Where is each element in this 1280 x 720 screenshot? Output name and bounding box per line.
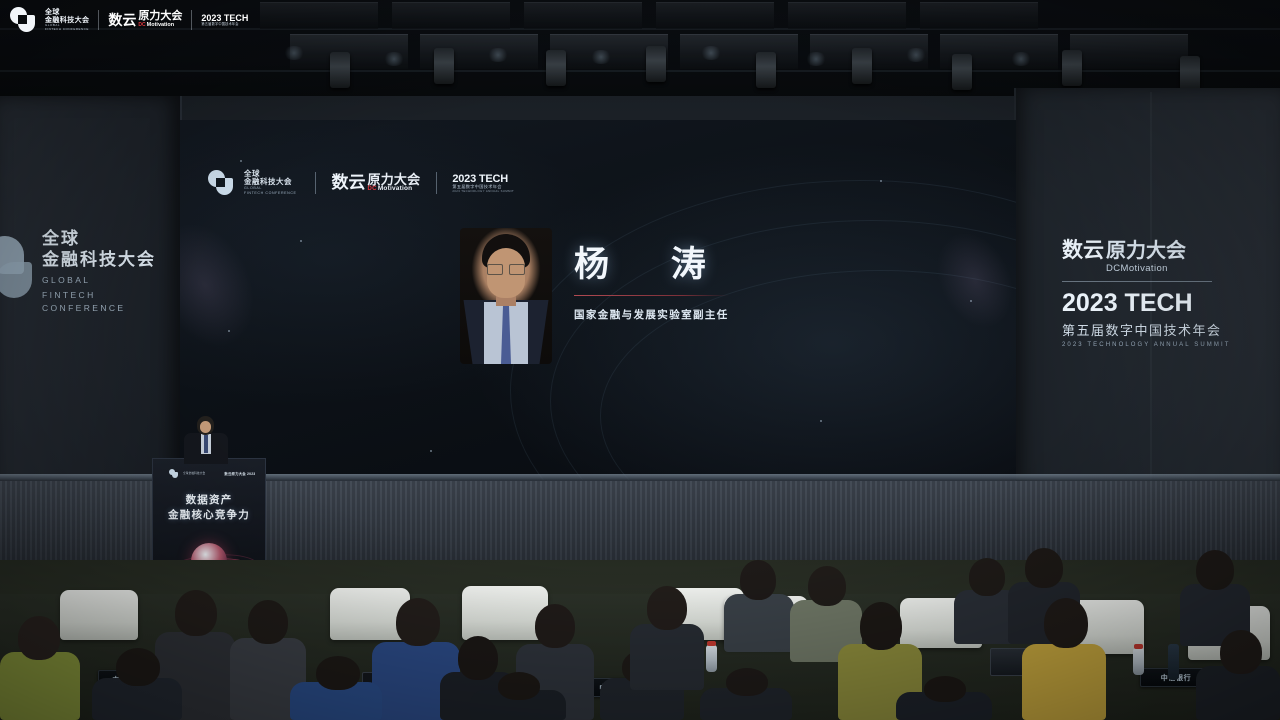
fintech-conference-logo-icon	[208, 170, 234, 196]
screen-shuyun-cn: 数云	[332, 174, 366, 191]
left-wall-signage: 全球 金融科技大会 GLOBAL FINTECH CONFERENCE	[8, 228, 168, 315]
audience-member	[470, 672, 566, 720]
audience-member	[0, 610, 80, 720]
logo-divider	[315, 172, 316, 194]
audience-member	[1196, 630, 1280, 720]
eyeglasses-icon	[487, 264, 525, 273]
right-sign-shuyun: 数云	[1062, 234, 1104, 264]
audience-member	[290, 656, 382, 720]
right-sign-divider	[1062, 281, 1212, 282]
audience-member	[92, 648, 182, 720]
overlay-motivation-label: Motivation	[147, 23, 175, 29]
overlay-partner-cn: 数云	[108, 10, 136, 30]
podium-title-line2: 金融核心竞争力	[153, 508, 265, 523]
left-sign-en-line2: FINTECH CONFERENCE	[42, 289, 168, 315]
speaker-title: 国家金融与发展实验室副主任	[574, 307, 834, 322]
stage-spotlight	[330, 52, 350, 88]
audience-member	[896, 676, 992, 720]
left-sign-cn-line1: 全球	[42, 228, 168, 249]
overlay-brand-cn1: 全球	[45, 9, 89, 17]
right-sign-cn-sub: 第五届数字中国技术年会	[1062, 320, 1272, 339]
podium-logo-partner: 数云原力大会 2023	[224, 471, 255, 476]
right-sign-en-sub: 2023 TECHNOLOGY ANNUAL SUMMIT	[1062, 342, 1272, 348]
overlay-dc-label: DC	[138, 23, 145, 28]
speaker-name-block: 杨 涛 国家金融与发展实验室副主任	[574, 246, 834, 322]
screen-tech-en: 2023 TECHNOLOGY ANNUAL SUMMIT	[452, 190, 514, 193]
speaker-portrait-photo	[460, 228, 552, 364]
stage-spotlight	[646, 46, 666, 82]
screen-yuanli-cn: 原力大会	[368, 173, 421, 187]
audience-member	[700, 668, 792, 720]
left-sign-en-line1: GLOBAL	[42, 274, 168, 287]
fintech-logo-icon-left	[0, 236, 30, 302]
audience-member	[724, 560, 794, 652]
stage-spotlight	[756, 52, 776, 88]
overlay-tech-cn: 第五届数字中国技术年会	[201, 23, 248, 27]
stage-spotlight	[434, 48, 454, 84]
stage-spotlight	[952, 54, 972, 90]
screen-gfc-en-line2: FINTECH CONFERENCE	[244, 192, 297, 196]
speaker-name: 杨 涛	[574, 246, 834, 285]
right-wall-signage: 数云 原力大会 DCMotivation 2023 TECH 第五届数字中国技术…	[1062, 234, 1272, 348]
podium-logo-cn: 全球金融科技大会	[183, 472, 205, 475]
overlay-fintech-logo-icon	[10, 7, 36, 33]
overlay-divider-2	[191, 10, 192, 30]
stage-spotlight	[1062, 50, 1082, 86]
podium-title-line1: 数据资产	[153, 493, 265, 508]
stage-spotlight	[1180, 56, 1200, 92]
overlay-divider	[98, 10, 99, 30]
podium-logo-row: 全球金融科技大会 数云原力大会 2023	[169, 469, 255, 478]
audience-member	[630, 586, 704, 690]
right-sign-tech-year: 2023 TECH	[1062, 289, 1272, 318]
water-bottle	[1168, 644, 1179, 680]
screen-motivation-label: Motivation	[378, 186, 413, 193]
conference-stage-photo: 全球 金融科技大会 GLOBAL FINTECH CONFERENCE 数云 原…	[0, 0, 1280, 720]
overlay-brand-en2: FINTECH CONFERENCE	[45, 28, 89, 31]
water-bottle	[1133, 648, 1144, 675]
stage-spotlight	[546, 50, 566, 86]
right-sign-yuanli: 原力大会	[1106, 241, 1186, 262]
screen-gfc-cn-line2: 金融科技大会	[244, 178, 297, 186]
right-sign-dcmotivation: DCMotivation	[1106, 264, 1186, 274]
stage-spotlight	[852, 48, 872, 84]
audience-member	[1022, 598, 1106, 720]
left-sign-cn-line2: 金融科技大会	[42, 249, 168, 270]
podium-fintech-logo-icon	[169, 469, 178, 478]
broadcast-overlay-logo: 全球 金融科技大会 GLOBAL FINTECH CONFERENCE 数云 原…	[10, 4, 248, 36]
name-underline	[574, 295, 729, 296]
screen-dc-label: DC	[368, 186, 377, 192]
logo-divider-2	[436, 172, 437, 194]
presenter-at-podium	[182, 416, 230, 464]
screen-header-logos: 全球 金融科技大会 GLOBAL FINTECH CONFERENCE 数云 原…	[208, 166, 514, 200]
